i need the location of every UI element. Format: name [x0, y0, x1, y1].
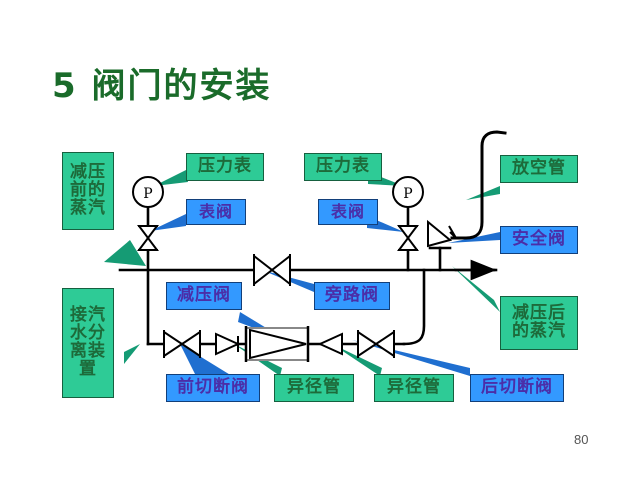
leader-separator	[124, 344, 140, 364]
leader-steam-after	[452, 266, 500, 312]
bottom-to-main-riser	[404, 270, 424, 344]
slide-canvas: 5 阀门的安装 80	[0, 0, 640, 480]
pressure-gauge-2: P	[393, 177, 423, 207]
rear-shutoff-valve-symbol	[358, 330, 394, 358]
label-vent-pipe: 放空管	[500, 155, 578, 183]
gauge-marker-1-text: P	[143, 186, 152, 202]
label-gauge-valve-1: 表阀	[186, 199, 246, 225]
label-pressure-gauge-2: 压力表	[304, 153, 382, 181]
label-rear-shutoff-valve: 后切断阀	[470, 374, 564, 402]
label-reducer-2: 异径管	[374, 374, 454, 402]
gauge-marker-2-text: P	[403, 186, 412, 202]
label-safety-valve: 安全阀	[500, 226, 578, 254]
bypass-valve-symbol	[254, 254, 290, 286]
vent-pipe-run	[452, 132, 505, 238]
label-steam-before: 减压 前的 蒸汽	[62, 152, 114, 230]
pressure-gauge-1: P	[133, 177, 163, 207]
label-pressure-gauge-1: 压力表	[186, 153, 264, 181]
gauge-valve-1-symbol	[138, 226, 158, 250]
label-steam-after: 减压后 的蒸汽	[500, 296, 578, 350]
reducer-2-symbol	[320, 334, 342, 354]
label-separator: 接汽 水分 离装 置	[62, 288, 114, 398]
label-front-shutoff-valve: 前切断阀	[166, 374, 260, 402]
reducer-1-symbol	[216, 334, 238, 354]
label-reducer-1: 异径管	[274, 374, 354, 402]
label-bypass-valve: 旁路阀	[314, 282, 390, 310]
leader-steam-before	[104, 240, 146, 266]
reducing-valve-symbol	[246, 326, 308, 362]
label-gauge-valve-2: 表阀	[318, 199, 378, 225]
label-reducing-valve: 减压阀	[166, 282, 242, 310]
gauge-valve-2-symbol	[398, 226, 418, 250]
